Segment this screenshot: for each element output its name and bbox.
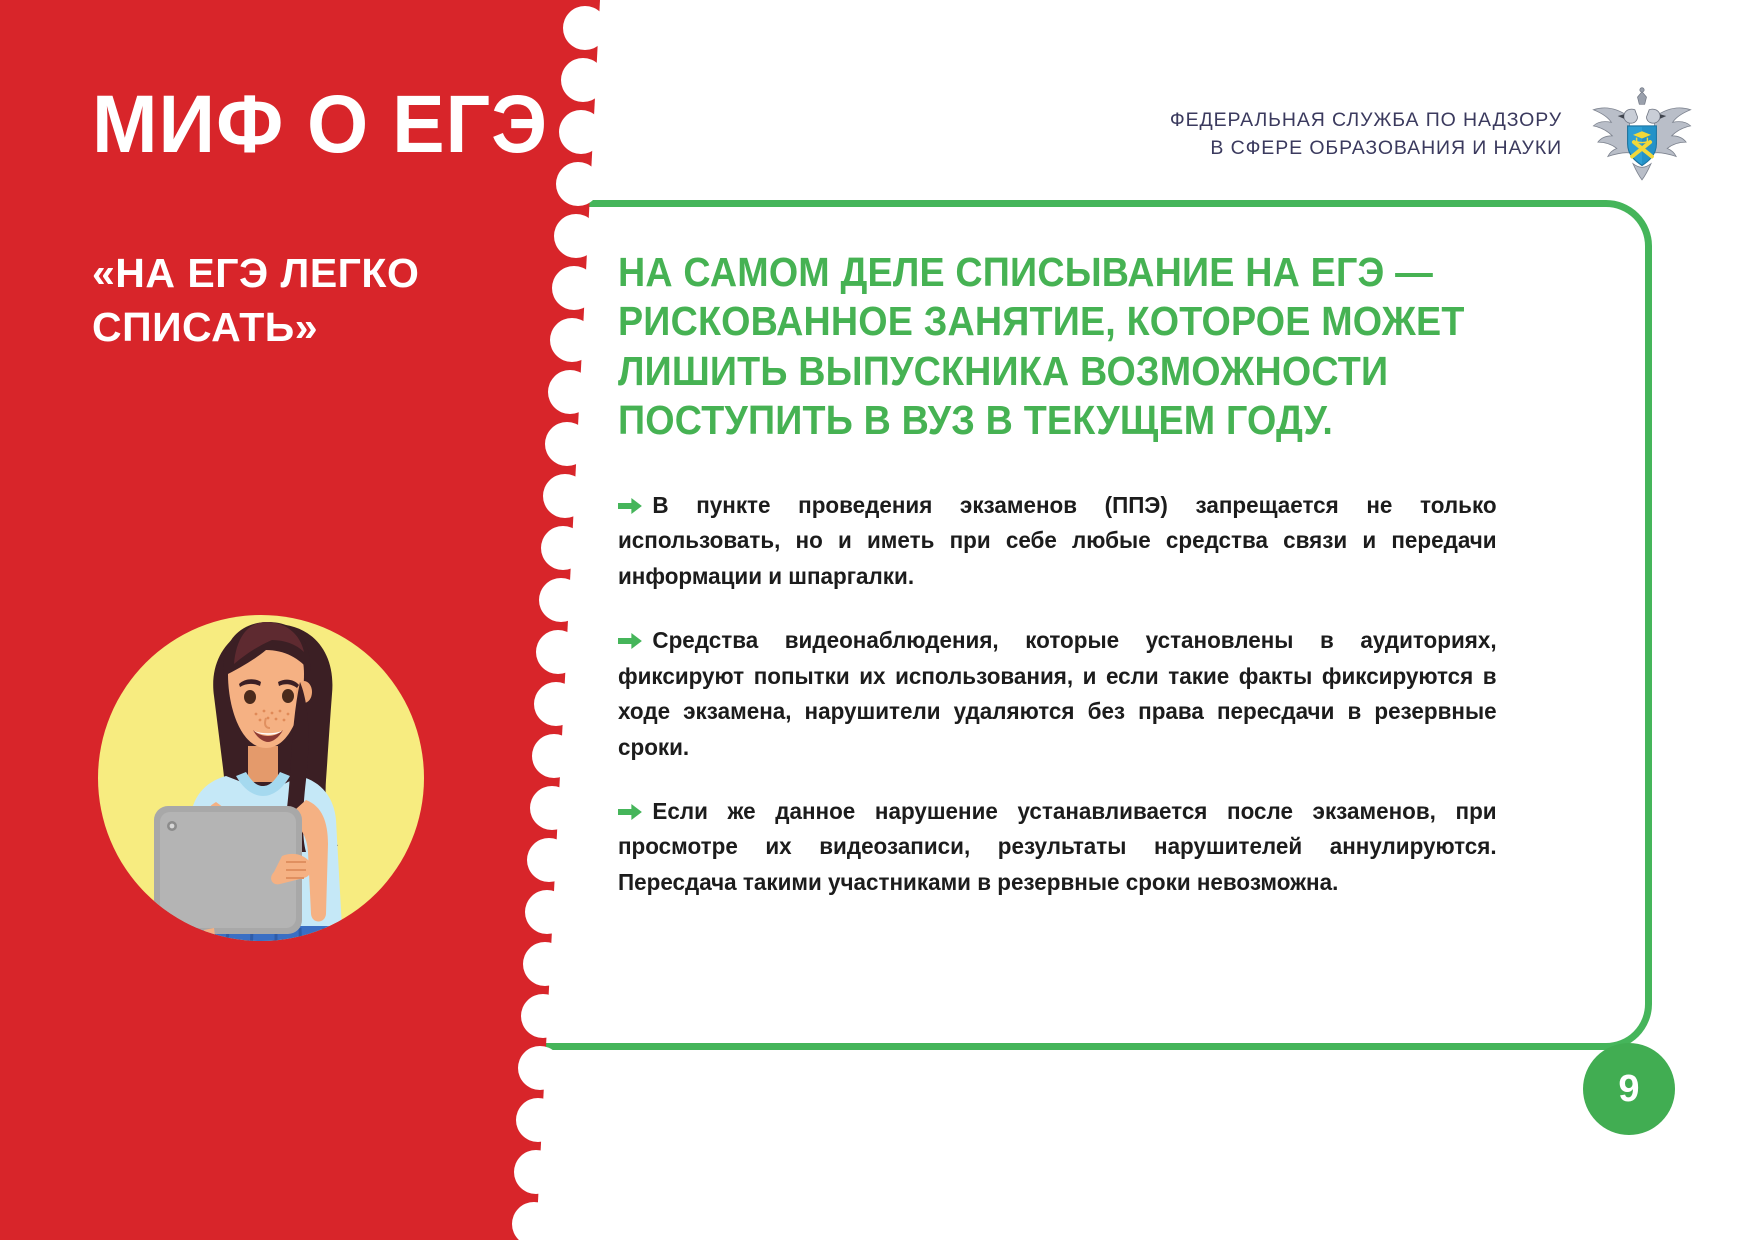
bullet-text: Средства видеонаблюдения, которые устано… (618, 627, 1497, 760)
bullet-text: Если же данное нарушение устанавливается… (618, 798, 1497, 895)
rosobrnadzor-emblem-icon (1588, 86, 1696, 182)
lead-statement: НА САМОМ ДЕЛЕ СПИСЫВАНИЕ НА ЕГЭ — РИСКОВ… (618, 248, 1511, 446)
arrow-right-icon (618, 497, 643, 515)
bullet-item: Если же данное нарушение устанавливается… (618, 794, 1497, 901)
page-number-badge: 9 (1583, 1043, 1675, 1135)
girl-with-tablet-illustration (96, 578, 426, 978)
bullet-list: В пункте проведения экзаменов (ППЭ) запр… (618, 488, 1498, 901)
bullet-item: В пункте проведения экзаменов (ППЭ) запр… (618, 488, 1497, 595)
myth-title: МИФ О ЕГЭ (92, 86, 548, 164)
myth-quote: «НА ЕГЭ ЛЕГКО СПИСАТЬ» (92, 246, 492, 354)
header: ФЕДЕРАЛЬНАЯ СЛУЖБА ПО НАДЗОРУ В СФЕРЕ ОБ… (1170, 86, 1696, 182)
bullet-text: В пункте проведения экзаменов (ППЭ) запр… (618, 492, 1497, 589)
infographic-page: МИФ О ЕГЭ «НА ЕГЭ ЛЕГКО СПИСАТЬ» ФЕДЕРАЛ… (0, 0, 1754, 1240)
bullet-item: Средства видеонаблюдения, которые устано… (618, 623, 1497, 766)
arrow-right-icon (618, 803, 643, 821)
hand-left (202, 928, 215, 964)
org-line-2: В СФЕРЕ ОБРАЗОВАНИЯ И НАУКИ (1170, 134, 1562, 162)
organization-name: ФЕДЕРАЛЬНАЯ СЛУЖБА ПО НАДЗОРУ В СФЕРЕ ОБ… (1170, 106, 1562, 163)
main-content: НА САМОМ ДЕЛЕ СПИСЫВАНИЕ НА ЕГЭ — РИСКОВ… (618, 248, 1498, 901)
org-line-1: ФЕДЕРАЛЬНАЯ СЛУЖБА ПО НАДЗОРУ (1170, 106, 1562, 134)
arrow-right-icon (618, 632, 643, 650)
